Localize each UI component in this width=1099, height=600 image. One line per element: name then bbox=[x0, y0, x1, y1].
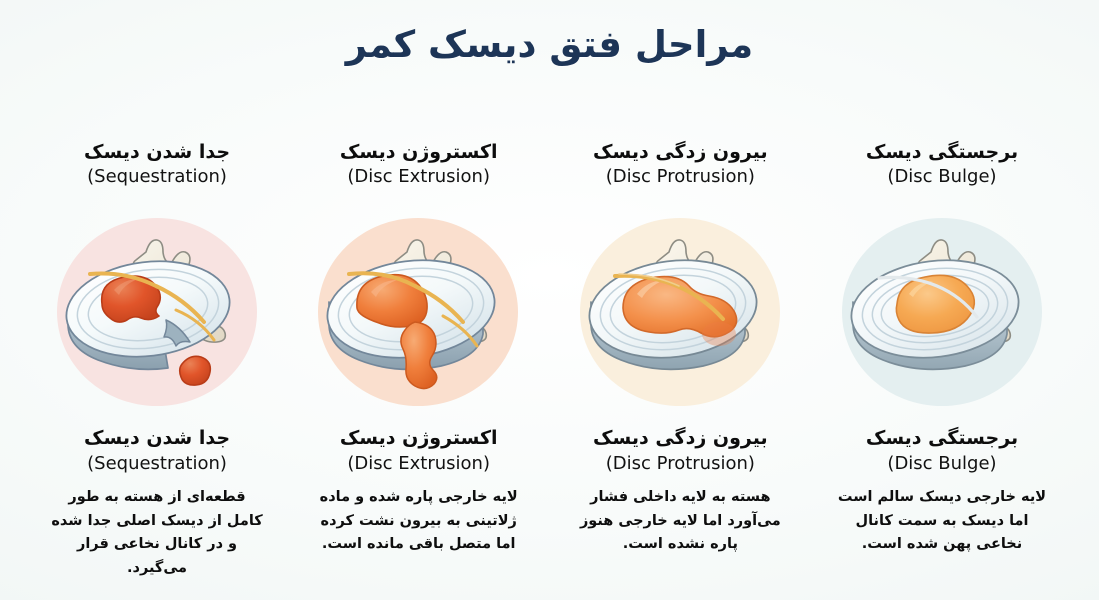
illustration-disc-extrusion bbox=[311, 212, 526, 412]
stage-description-disc-sequestration: قطعه‌ای از هسته به طور کامل از دیسک اصلی… bbox=[50, 486, 265, 580]
stage-caption-disc-extrusion: اکستروژن دیسک (Disc Extrusion) bbox=[340, 426, 498, 475]
title-area: مراحل فتق دیسک کمر bbox=[0, 22, 1099, 68]
stage-heading-disc-sequestration: جدا شدن دیسک (Sequestration) bbox=[84, 140, 230, 202]
infographic-page: مراحل فتق دیسک کمر برجستگی دیسک (Disc Bu… bbox=[0, 0, 1099, 600]
stage-caption-fa: برجستگی دیسک bbox=[866, 426, 1018, 451]
illustration-disc-protrusion bbox=[573, 212, 788, 412]
stage-heading-en: (Disc Extrusion) bbox=[340, 165, 498, 188]
stage-description-disc-protrusion: هسته به لایه داخلی فشار می‌آورد اما لایه… bbox=[573, 486, 788, 556]
stage-caption-disc-bulge: برجستگی دیسک (Disc Bulge) bbox=[866, 426, 1018, 475]
pressure-point bbox=[702, 322, 736, 346]
disc-bulge-diagram bbox=[835, 212, 1050, 412]
stage-heading-disc-bulge: برجستگی دیسک (Disc Bulge) bbox=[866, 140, 1018, 202]
stage-heading-disc-protrusion: بیرون زدگی دیسک (Disc Protrusion) bbox=[593, 140, 768, 202]
illustration-disc-bulge bbox=[835, 212, 1050, 412]
page-title: مراحل فتق دیسک کمر bbox=[0, 22, 1099, 68]
stage-caption-disc-protrusion: بیرون زدگی دیسک (Disc Protrusion) bbox=[593, 426, 768, 475]
stage-caption-disc-sequestration: جدا شدن دیسک (Sequestration) bbox=[84, 426, 230, 475]
stage-caption-fa: بیرون زدگی دیسک bbox=[593, 426, 768, 451]
stage-caption-en: (Sequestration) bbox=[84, 452, 230, 475]
stage-caption-fa: اکستروژن دیسک bbox=[340, 426, 498, 451]
stage-card-disc-extrusion: اکستروژن دیسک (Disc Extrusion) bbox=[294, 140, 544, 557]
illustration-disc-sequestration bbox=[50, 212, 265, 412]
stage-card-disc-protrusion: بیرون زدگی دیسک (Disc Protrusion) bbox=[555, 140, 805, 557]
stage-caption-en: (Disc Bulge) bbox=[866, 452, 1018, 475]
disc-sequestration-diagram bbox=[50, 212, 265, 412]
stage-heading-disc-extrusion: اکستروژن دیسک (Disc Extrusion) bbox=[340, 140, 498, 202]
sequestered-fragment bbox=[179, 356, 210, 385]
stage-caption-fa: جدا شدن دیسک bbox=[84, 426, 230, 451]
stages-row: برجستگی دیسک (Disc Bulge) bbox=[0, 140, 1099, 590]
stage-heading-fa: اکستروژن دیسک bbox=[340, 140, 498, 164]
stage-heading-fa: برجستگی دیسک bbox=[866, 140, 1018, 164]
stage-caption-en: (Disc Protrusion) bbox=[593, 452, 768, 475]
stage-heading-fa: بیرون زدگی دیسک bbox=[593, 140, 768, 164]
nucleus-pulposus bbox=[357, 275, 427, 327]
stage-card-disc-bulge: برجستگی دیسک (Disc Bulge) bbox=[817, 140, 1067, 557]
stage-heading-en: (Disc Protrusion) bbox=[593, 165, 768, 188]
stage-description-disc-bulge: لایه خارجی دیسک سالم است اما دیسک به سمت… bbox=[835, 486, 1050, 556]
disc-protrusion-diagram bbox=[573, 212, 788, 412]
disc-extrusion-diagram bbox=[311, 212, 526, 412]
stage-card-disc-sequestration: جدا شدن دیسک (Sequestration) bbox=[32, 140, 282, 580]
stage-heading-en: (Disc Bulge) bbox=[866, 165, 1018, 188]
stage-heading-en: (Sequestration) bbox=[84, 165, 230, 188]
stage-heading-fa: جدا شدن دیسک bbox=[84, 140, 230, 164]
stage-caption-en: (Disc Extrusion) bbox=[340, 452, 498, 475]
stage-description-disc-extrusion: لایه خارجی پاره شده و ماده ژلاتینی به بی… bbox=[311, 486, 526, 556]
